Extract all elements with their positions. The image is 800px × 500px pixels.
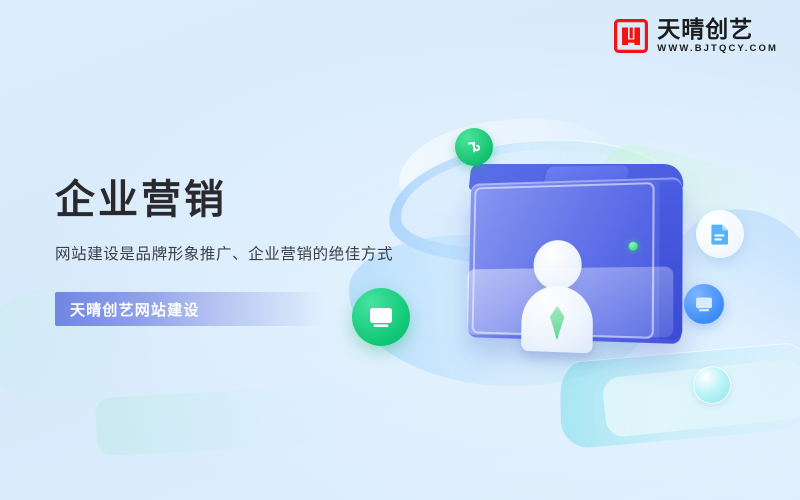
glass-sphere <box>693 366 731 404</box>
site-logo[interactable]: 天晴创艺 WWW.BJTQCY.COM <box>614 18 778 54</box>
folder-glass-overlay <box>467 267 673 338</box>
ribbon-bottom-left <box>95 386 338 456</box>
logo-website-url: WWW.BJTQCY.COM <box>657 44 778 54</box>
mini-program-icon[interactable] <box>455 128 493 166</box>
logo-text-block: 天晴创艺 WWW.BJTQCY.COM <box>657 18 778 54</box>
page-title: 企业营销 <box>55 178 475 223</box>
marketing-banner: 天晴创艺 WWW.BJTQCY.COM 企业营销 网站建设是品牌形象推广、企业营… <box>0 0 800 500</box>
brand-badge[interactable]: 天晴创艺网站建设 <box>55 292 323 326</box>
monitor-icon-green[interactable] <box>352 288 410 346</box>
status-dot <box>629 242 638 251</box>
brand-badge-label: 天晴创艺网站建设 <box>70 299 200 320</box>
tianqing-chuangyi-logo-mark-icon <box>614 19 648 53</box>
folder-illustration <box>452 150 692 370</box>
hero-copy: 企业营销 网站建设是品牌形象推广、企业营销的绝佳方式 天晴创艺网站建设 <box>55 178 475 326</box>
document-icon[interactable] <box>696 210 744 258</box>
logo-company-name: 天晴创艺 <box>657 18 778 41</box>
monitor-icon-blue[interactable] <box>684 284 724 324</box>
page-subtitle: 网站建设是品牌形象推广、企业营销的绝佳方式 <box>55 243 475 266</box>
